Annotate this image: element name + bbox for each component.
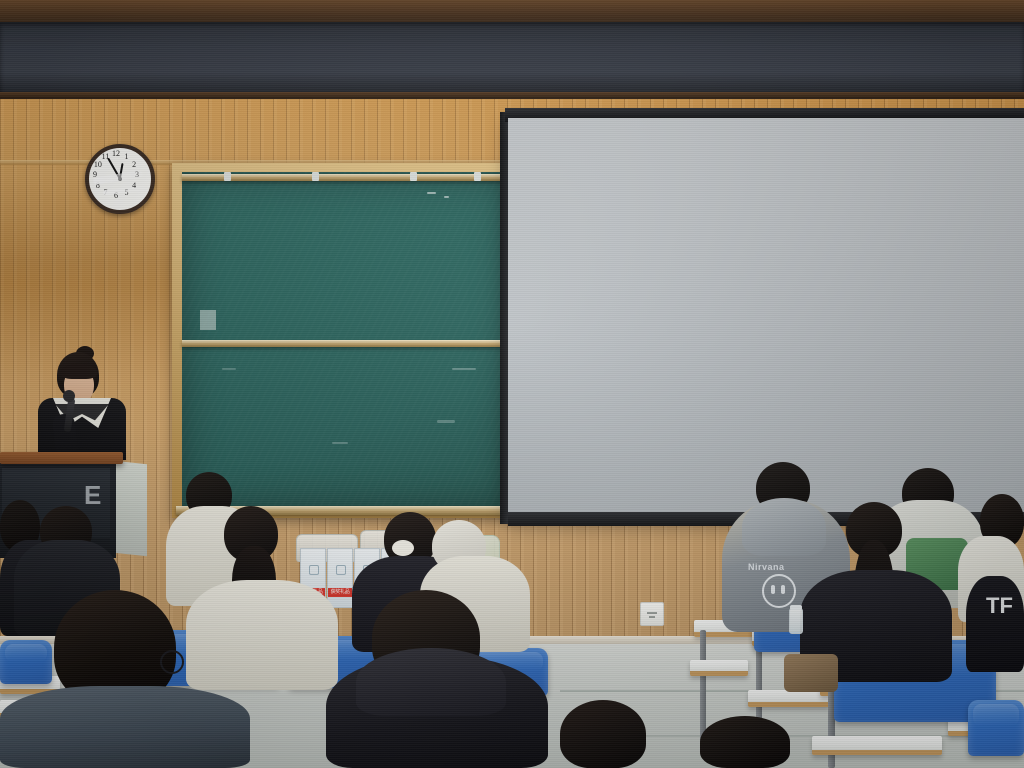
microphone-head xyxy=(63,390,75,402)
chalk-smudge xyxy=(222,368,236,370)
power-outlet-icon[interactable] xyxy=(640,602,664,626)
chalk-smudge xyxy=(444,196,449,198)
water-bottle xyxy=(789,608,803,634)
desk xyxy=(748,690,830,707)
clock-numeral: 2 xyxy=(129,160,139,170)
desk xyxy=(690,660,748,676)
valance-trim xyxy=(0,92,1024,99)
rail-clip xyxy=(410,172,417,181)
outlet-slot xyxy=(647,612,657,614)
presenter-fringe xyxy=(61,364,97,379)
rail-clip xyxy=(224,172,231,181)
chalk-smudge xyxy=(452,368,476,370)
lectern-top xyxy=(0,452,123,464)
outlet-slot xyxy=(649,616,655,618)
hoodie-graphic-text: Nirvana xyxy=(748,562,785,572)
head xyxy=(560,700,646,768)
clock-numeral: 12 xyxy=(111,149,121,159)
clock-icon: 121234567891011 xyxy=(85,144,155,214)
torso xyxy=(186,580,338,690)
rail-clip xyxy=(474,172,481,181)
chair[interactable] xyxy=(0,640,52,684)
hood xyxy=(742,498,826,556)
chalkboard-note xyxy=(200,310,216,330)
chalk-rail xyxy=(182,174,512,181)
rail-clip xyxy=(312,172,319,181)
smiley-eye xyxy=(771,585,775,594)
bottle-cap xyxy=(790,605,802,610)
chalk-smudge xyxy=(437,420,455,423)
smiley-eye xyxy=(781,585,785,594)
smiley-icon xyxy=(762,574,796,608)
desk xyxy=(812,736,942,755)
jacket-graphic-text: TF xyxy=(986,596,1013,616)
torso xyxy=(0,686,250,768)
chair[interactable] xyxy=(968,700,1024,756)
prize-box-mark xyxy=(336,565,346,575)
projection-screen: 壹 公布获奖结果 xyxy=(508,118,1024,518)
head xyxy=(700,716,790,768)
torso xyxy=(966,576,1024,672)
classroom-scene: 121234567891011 xyxy=(0,0,1024,768)
hair-tie xyxy=(392,540,414,556)
lectern-logo: E xyxy=(84,478,106,512)
shoulder-bag xyxy=(784,654,838,692)
prize-box-label: 获奖礼品 xyxy=(328,588,352,597)
eyeglasses-icon xyxy=(160,650,184,674)
hood xyxy=(356,648,506,716)
prize-box-mark xyxy=(309,565,319,575)
chalk-smudge xyxy=(427,192,436,194)
prize-box: 获奖礼品 xyxy=(327,548,353,608)
upper-wall-valance xyxy=(0,22,1024,94)
chalk-rail xyxy=(182,340,512,347)
chalk-smudge xyxy=(332,442,348,444)
prize-label-text: 获奖礼品 xyxy=(328,588,352,597)
